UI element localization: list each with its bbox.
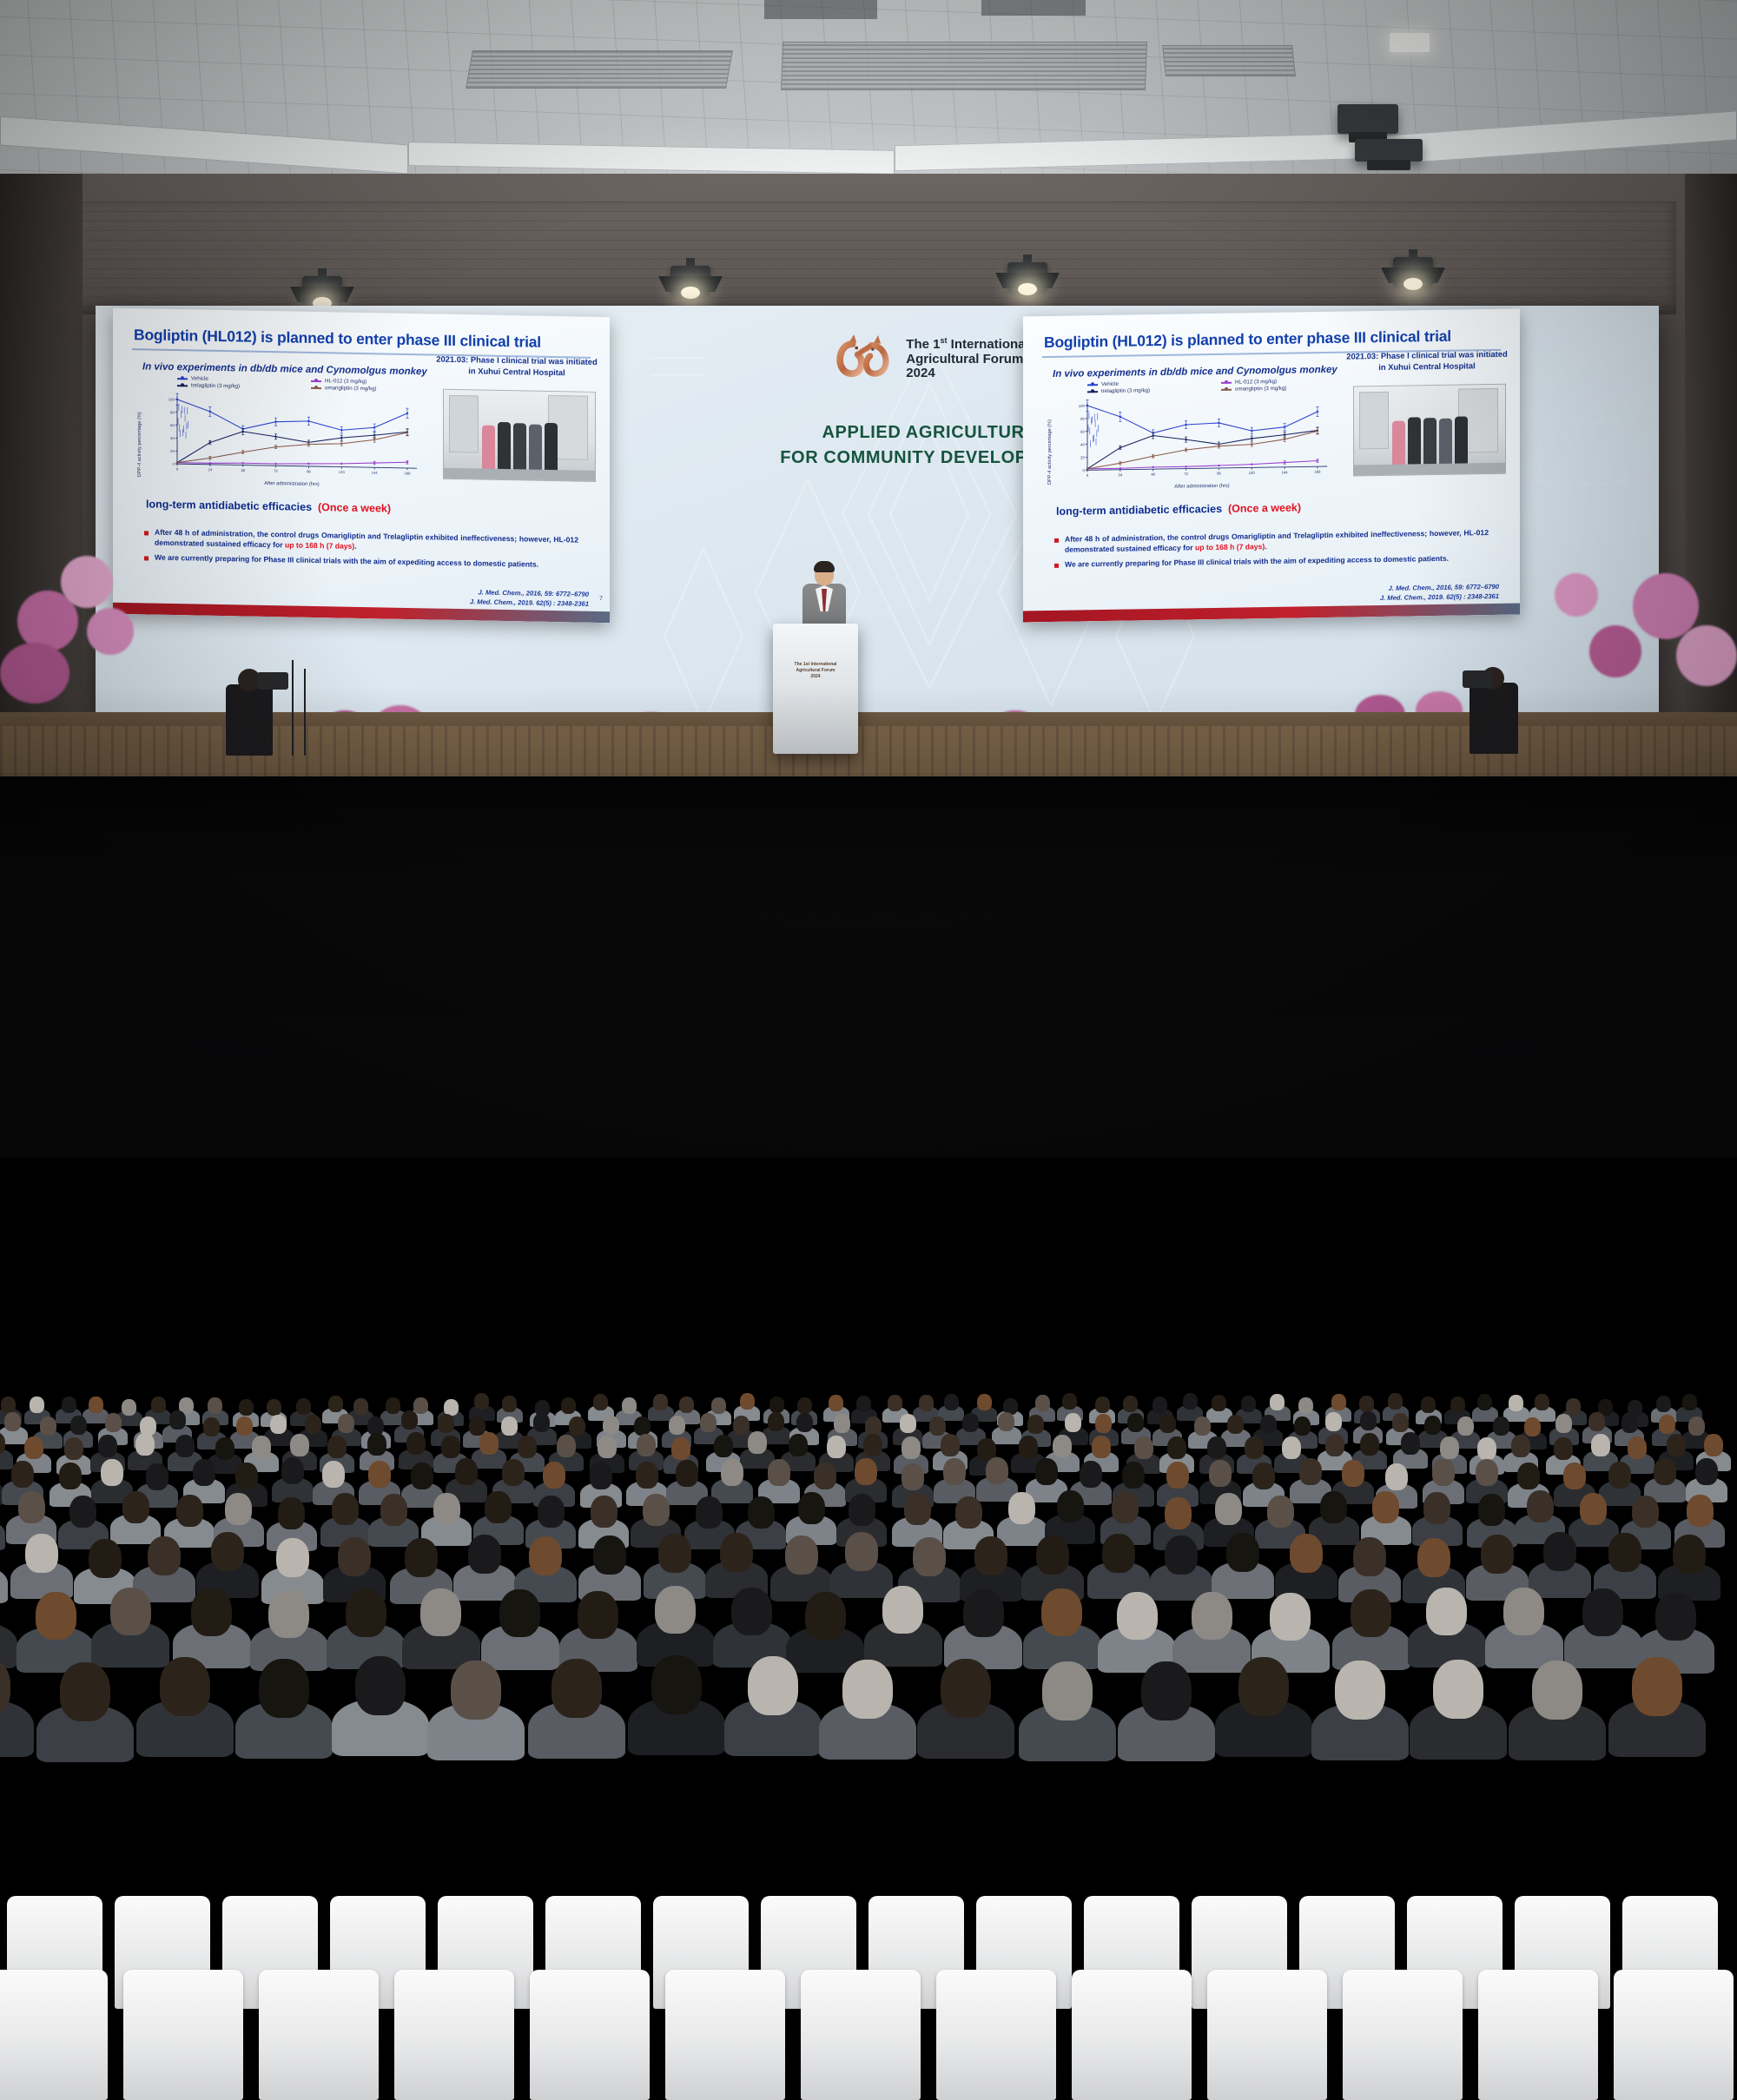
audience-head	[963, 1589, 1004, 1637]
audience-head	[122, 1491, 149, 1523]
audience-head	[561, 1397, 576, 1414]
audience-head	[4, 1412, 21, 1431]
audience-head	[829, 1395, 843, 1411]
audience-head	[36, 1592, 76, 1640]
audience-head	[322, 1461, 345, 1488]
svg-text:144: 144	[372, 471, 379, 475]
audience-head	[1152, 1397, 1167, 1413]
audience-head	[191, 1588, 232, 1636]
audience-head	[239, 1399, 254, 1416]
audience-head	[1165, 1497, 1192, 1529]
audience-head	[1141, 1661, 1192, 1720]
audience-chair	[936, 1970, 1056, 2100]
svg-text:20: 20	[1080, 455, 1085, 459]
audience-head	[1351, 1589, 1391, 1637]
audience-head	[11, 1461, 34, 1488]
chart-x-axis-label: After administration (hrs)	[1072, 482, 1332, 492]
naga-infinity-logo	[829, 332, 897, 386]
audience-head	[1122, 1462, 1145, 1489]
audience-head	[1095, 1414, 1112, 1433]
audience-head	[1582, 1588, 1623, 1636]
audience-chair	[1478, 1970, 1598, 2100]
audience-head	[1183, 1393, 1198, 1410]
svg-text:0: 0	[1086, 473, 1089, 478]
slide-bullets: After 48 h of administration, the contro…	[1054, 528, 1489, 574]
audience-head	[406, 1432, 426, 1455]
svg-text:0: 0	[172, 462, 175, 466]
audience-head	[1421, 1397, 1436, 1413]
audience-head	[1524, 1417, 1541, 1436]
audience-head	[1207, 1436, 1226, 1459]
spotlight-arm	[686, 258, 695, 268]
audience-head	[1212, 1395, 1226, 1411]
audience-head	[977, 1394, 992, 1410]
audience-head	[110, 1588, 151, 1635]
audience-head	[569, 1417, 585, 1436]
audience-head	[1053, 1435, 1072, 1457]
audience-head	[913, 1537, 946, 1576]
audience-head	[865, 1417, 882, 1436]
audience-head	[40, 1417, 56, 1436]
audience-head	[386, 1397, 400, 1414]
audience-head	[413, 1397, 428, 1414]
audience-head	[1238, 1657, 1289, 1716]
audience-head	[1041, 1588, 1082, 1636]
audience-head	[1035, 1458, 1058, 1485]
dpp4-activity-chart: Vehicle HL-012 (3 mg/kg) trelagliptin (3…	[139, 376, 434, 499]
svg-text:40: 40	[1080, 442, 1085, 446]
audience-head	[740, 1393, 755, 1410]
audience-head	[1331, 1394, 1346, 1410]
audience-head	[380, 1494, 407, 1526]
audience-head	[1688, 1417, 1705, 1436]
audience-head	[676, 1460, 698, 1487]
audience-head	[748, 1496, 775, 1529]
audience-head	[135, 1433, 155, 1456]
speaker-hair	[814, 561, 835, 572]
svg-text:60: 60	[1080, 430, 1085, 434]
audience-head	[151, 1397, 166, 1413]
audience-head	[225, 1493, 252, 1525]
ceiling-vent	[781, 42, 1147, 90]
audience-head	[296, 1398, 311, 1415]
audience-head	[1563, 1463, 1586, 1489]
audience-head	[1554, 1437, 1573, 1460]
forum-title-block: The 1st International Agricultural Forum…	[906, 336, 1028, 382]
audience-head	[169, 1410, 186, 1430]
led-backdrop-screen: The 1st International Agricultural Forum…	[96, 306, 1659, 731]
svg-text:0: 0	[1082, 468, 1085, 472]
audience-head	[451, 1661, 501, 1720]
audience-head	[270, 1415, 287, 1434]
audience-head	[276, 1538, 309, 1577]
audience-chair	[665, 1970, 785, 2100]
audience-head	[1270, 1593, 1311, 1641]
audience-head	[176, 1495, 203, 1527]
audience-chairs	[0, 897, 1737, 1158]
audience-head	[1019, 1436, 1038, 1458]
audience-head	[1294, 1417, 1311, 1436]
audience-head	[502, 1459, 525, 1486]
audience-head	[1591, 1434, 1610, 1456]
audience-head	[338, 1414, 354, 1433]
ceiling-vent	[1162, 45, 1296, 76]
audience-head	[1215, 1493, 1242, 1525]
audience-head	[1608, 1462, 1631, 1489]
svg-text:24: 24	[1119, 472, 1123, 477]
svg-text:0: 0	[176, 467, 179, 472]
forum-title-line2: Agricultural Forum	[906, 353, 1028, 367]
audience-head	[1062, 1393, 1077, 1410]
audience-head	[849, 1494, 875, 1526]
audience-head	[538, 1496, 565, 1528]
audience-head	[1065, 1413, 1081, 1432]
audience-head	[1290, 1534, 1323, 1573]
audience-head	[900, 1414, 916, 1433]
svg-text:100: 100	[168, 397, 175, 401]
audience-head	[1535, 1394, 1549, 1410]
podium-logo-line1: The 1st International	[795, 662, 837, 668]
svg-text:144: 144	[1282, 470, 1289, 474]
audience-head	[405, 1538, 438, 1577]
audience-head	[856, 1396, 871, 1412]
audience-head	[1320, 1491, 1347, 1523]
audience-head	[1166, 1462, 1189, 1489]
audience-head	[1245, 1436, 1264, 1459]
audience-head	[1385, 1463, 1408, 1490]
audience-head	[1267, 1496, 1294, 1528]
audience-head	[1298, 1397, 1313, 1414]
audience-head	[208, 1397, 222, 1414]
audience-head	[1360, 1411, 1377, 1430]
ceiling-projector	[1337, 104, 1398, 134]
audience-head	[1588, 1412, 1605, 1431]
audience-head	[1673, 1535, 1706, 1574]
audience-head	[593, 1394, 608, 1410]
audience-head	[720, 1533, 753, 1572]
audience-head	[455, 1458, 478, 1485]
audience-head	[441, 1436, 460, 1458]
audience-head	[643, 1494, 670, 1526]
audience-head	[622, 1397, 637, 1414]
audience-head	[845, 1532, 878, 1571]
audience-head	[1580, 1493, 1607, 1525]
audience-head	[943, 1458, 966, 1485]
audience-head	[593, 1535, 626, 1575]
audience-head	[401, 1410, 418, 1430]
audience-head	[805, 1592, 846, 1640]
spotlight-lamp	[1018, 283, 1037, 295]
audience-head	[1282, 1436, 1301, 1459]
audience-head	[25, 1534, 58, 1573]
audience-head	[101, 1459, 123, 1486]
svg-text:60: 60	[170, 423, 175, 427]
audience-head	[1481, 1535, 1514, 1574]
audience-head	[1655, 1593, 1696, 1641]
svg-text:48: 48	[1151, 472, 1155, 477]
audience-chair	[1207, 1970, 1327, 2100]
audience-head	[1117, 1592, 1158, 1640]
audience-head	[1008, 1492, 1035, 1524]
audience-head	[479, 1432, 499, 1455]
svg-text:72: 72	[1184, 472, 1188, 476]
audience-head	[327, 1436, 347, 1458]
audience-head	[215, 1437, 234, 1460]
audience-head	[420, 1588, 461, 1636]
audience-head	[1457, 1417, 1474, 1436]
audience-head	[855, 1458, 877, 1485]
audience-head	[175, 1435, 195, 1457]
audience-head	[1566, 1398, 1581, 1415]
audience-head	[281, 1457, 304, 1484]
audience-head	[1503, 1588, 1544, 1635]
audience-head	[1134, 1436, 1153, 1459]
audience-head	[203, 1417, 220, 1436]
audience-head	[919, 1395, 934, 1411]
forum-title-line3: 2024	[906, 367, 1028, 381]
audience-head	[1227, 1415, 1244, 1434]
bullet-square-icon	[144, 556, 149, 560]
audience-head	[904, 1493, 931, 1525]
audience-area	[0, 686, 1737, 1158]
audience-head	[834, 1414, 850, 1433]
audience-chair	[259, 1970, 379, 2100]
presentation-slide-left: Bogliptin (HL012) is planned to enter ph…	[113, 308, 610, 623]
audience-head	[798, 1492, 825, 1524]
audience-head	[529, 1536, 562, 1575]
spotlight-arm	[1023, 254, 1032, 265]
audience-head	[1450, 1397, 1465, 1413]
audience-head	[902, 1463, 924, 1490]
audience-head	[468, 1535, 501, 1574]
audience-head	[1192, 1592, 1232, 1640]
audience-head	[1532, 1661, 1582, 1720]
audience-head	[501, 1417, 518, 1436]
audience-head	[1057, 1490, 1084, 1522]
audience-head	[1511, 1435, 1530, 1457]
slide-note: 2021.03: Phase I clinical trial was init…	[1346, 349, 1508, 373]
ceiling-dark-panel	[764, 0, 877, 19]
audience-head	[1112, 1491, 1139, 1523]
svg-text:168: 168	[1314, 470, 1321, 474]
audience-head	[814, 1463, 836, 1489]
audience-head	[1299, 1458, 1322, 1485]
scene-root: The 1st International Agricultural Forum…	[0, 0, 1737, 1158]
legend-item: omarigliptin (3 mg/kg)	[311, 385, 438, 393]
audience-head	[1226, 1533, 1259, 1572]
audience-head	[1241, 1396, 1256, 1412]
audience-head	[18, 1491, 45, 1523]
audience-head	[502, 1396, 517, 1412]
audience-head	[789, 1434, 808, 1456]
svg-text:80: 80	[1080, 417, 1085, 421]
audience-head	[1270, 1394, 1285, 1410]
audience-head	[24, 1436, 43, 1459]
audience-head	[346, 1589, 386, 1637]
audience-head	[748, 1656, 798, 1715]
chart-y-axis-label: DPP-4 activity percentage (%)	[137, 393, 142, 477]
audience-head	[332, 1493, 359, 1525]
chart-x-axis-label: After administration (hrs)	[162, 479, 422, 489]
audience-head	[1426, 1588, 1467, 1635]
audience-head	[268, 1590, 309, 1638]
audience-head	[98, 1435, 117, 1457]
audience-head	[1555, 1414, 1572, 1433]
audience-head	[367, 1433, 386, 1456]
audience-person	[0, 1566, 8, 1603]
svg-text:20: 20	[170, 449, 175, 453]
audience-head	[267, 1399, 281, 1416]
slide-bullets: After 48 h of administration, the contro…	[144, 527, 578, 575]
svg-text:80: 80	[170, 410, 175, 414]
slide-page-number: 7	[599, 596, 603, 602]
audience-head	[160, 1657, 210, 1716]
audience-head	[518, 1436, 537, 1458]
svg-text:40: 40	[170, 436, 175, 440]
audience-chair	[1072, 1970, 1192, 2100]
dpp4-activity-chart: Vehicle HL-012 (3 mg/kg) trelagliptin (3…	[1049, 380, 1344, 502]
audience-head	[714, 1435, 733, 1457]
chart-svg: 020406080100024487296120144168	[162, 393, 422, 480]
audience-head	[1401, 1432, 1420, 1455]
audience-head	[1517, 1463, 1540, 1489]
audience-head	[679, 1397, 694, 1413]
audience-head	[955, 1496, 982, 1529]
audience-head	[1417, 1538, 1450, 1577]
audience-head	[1167, 1436, 1186, 1459]
audience-head	[863, 1434, 882, 1456]
audience-head	[353, 1398, 368, 1415]
audience-head	[551, 1659, 602, 1718]
audience-head	[1493, 1417, 1509, 1436]
audience-head	[578, 1591, 618, 1639]
audience-head	[797, 1397, 812, 1414]
audience-head	[748, 1431, 767, 1454]
audience-head	[888, 1395, 902, 1411]
audience-head	[636, 1462, 658, 1489]
audience-head	[1659, 1415, 1675, 1434]
slide-references: J. Med. Chem., 2016, 59: 6772–6790 J. Me…	[1380, 582, 1499, 603]
audience-head	[485, 1491, 512, 1523]
stage-spotlight	[1393, 257, 1433, 287]
audience-head	[1632, 1657, 1682, 1716]
audience-head	[368, 1461, 391, 1488]
audience-head	[148, 1536, 181, 1575]
audience-head	[1353, 1537, 1386, 1576]
audience-head	[1608, 1533, 1641, 1572]
audience-head	[1, 1397, 16, 1413]
audience-head	[1360, 1433, 1379, 1456]
audience-head	[69, 1496, 96, 1528]
audience-head	[355, 1656, 406, 1715]
audience-head	[1036, 1535, 1069, 1575]
audience-head	[974, 1536, 1007, 1575]
audience-chair	[530, 1970, 650, 2100]
audience-head	[252, 1436, 271, 1458]
audience-head	[438, 1414, 454, 1433]
audience-head	[193, 1459, 215, 1486]
audience-head	[1092, 1436, 1111, 1458]
audience-chair	[1343, 1970, 1463, 2100]
clinical-trial-photo	[1353, 384, 1506, 477]
audience-head	[634, 1417, 651, 1436]
slide-title: Bogliptin (HL012) is planned to enter ph…	[134, 326, 610, 353]
ceiling-dark-panel	[981, 0, 1086, 16]
audience-head	[842, 1660, 893, 1719]
audience-head	[236, 1417, 253, 1436]
audience-head	[1423, 1492, 1450, 1524]
audience-head	[1194, 1417, 1211, 1436]
audience-head	[259, 1659, 309, 1718]
audience-head	[902, 1436, 921, 1459]
slide-references: J. Med. Chem., 2016, 59: 6772–6790 J. Me…	[470, 587, 589, 609]
audience-head	[469, 1417, 485, 1436]
audience-head	[89, 1539, 122, 1578]
ceiling-projector	[1355, 139, 1423, 162]
slide-bullet: After 48 h of administration, the contro…	[144, 527, 578, 556]
svg-text:168: 168	[404, 471, 411, 475]
audience-head	[557, 1435, 576, 1457]
audience-head	[1388, 1393, 1403, 1410]
audience-head	[721, 1459, 743, 1486]
slide-bullet: After 48 h of administration, the contro…	[1054, 528, 1489, 556]
audience-head	[1654, 1458, 1676, 1485]
audience-head	[1335, 1661, 1385, 1720]
audience-head	[651, 1655, 702, 1714]
audience-head	[70, 1416, 87, 1435]
chart-plot-area: 020406080100024487296120144168	[1072, 395, 1332, 483]
audience-head	[1372, 1491, 1399, 1523]
audience-head	[290, 1434, 309, 1456]
legend-item: trelagliptin (3 mg/kg)	[177, 382, 304, 391]
audience-head	[882, 1586, 923, 1634]
svg-text:48: 48	[241, 468, 245, 472]
audience-head	[305, 1415, 321, 1434]
chart-svg: 020406080100024487296120144168	[1072, 395, 1332, 483]
audience-head	[590, 1463, 612, 1489]
audience-head	[768, 1412, 784, 1431]
audience-head	[944, 1394, 959, 1410]
audience-head	[433, 1493, 460, 1525]
audience-head	[1095, 1397, 1110, 1413]
slide-efficacy-line: long-term antidiabetic efficacies (Once …	[1056, 501, 1301, 517]
audience-head	[1042, 1661, 1093, 1720]
audience-head	[769, 1397, 784, 1413]
bullet-square-icon	[1054, 538, 1059, 543]
audience-chair	[123, 1970, 243, 2100]
audience-head	[653, 1394, 668, 1410]
stage-spotlight	[670, 266, 710, 295]
audience-head	[731, 1588, 772, 1635]
audience-head	[146, 1463, 168, 1490]
slide-bullet: We are currently preparing for Phase III…	[1054, 553, 1489, 571]
audience-head	[278, 1497, 305, 1529]
audience-head	[1477, 1437, 1496, 1460]
audience-head	[827, 1436, 846, 1458]
presentation-slide-right: Bogliptin (HL012) is planned to enter ph…	[1023, 309, 1520, 623]
audience-head	[1509, 1395, 1523, 1411]
audience-head	[1432, 1459, 1455, 1486]
audience-chair	[801, 1970, 921, 2100]
audience-head	[1543, 1532, 1576, 1571]
audience-head	[1440, 1436, 1459, 1459]
audience-chair	[394, 1970, 514, 2100]
chart-plot-area: 020406080100024487296120144168	[162, 393, 422, 480]
chart-legend: Vehicle HL-012 (3 mg/kg) trelagliptin (3…	[1087, 378, 1348, 395]
svg-text:24: 24	[208, 467, 213, 472]
audience-head	[122, 1399, 136, 1416]
audience-head	[1424, 1416, 1441, 1435]
